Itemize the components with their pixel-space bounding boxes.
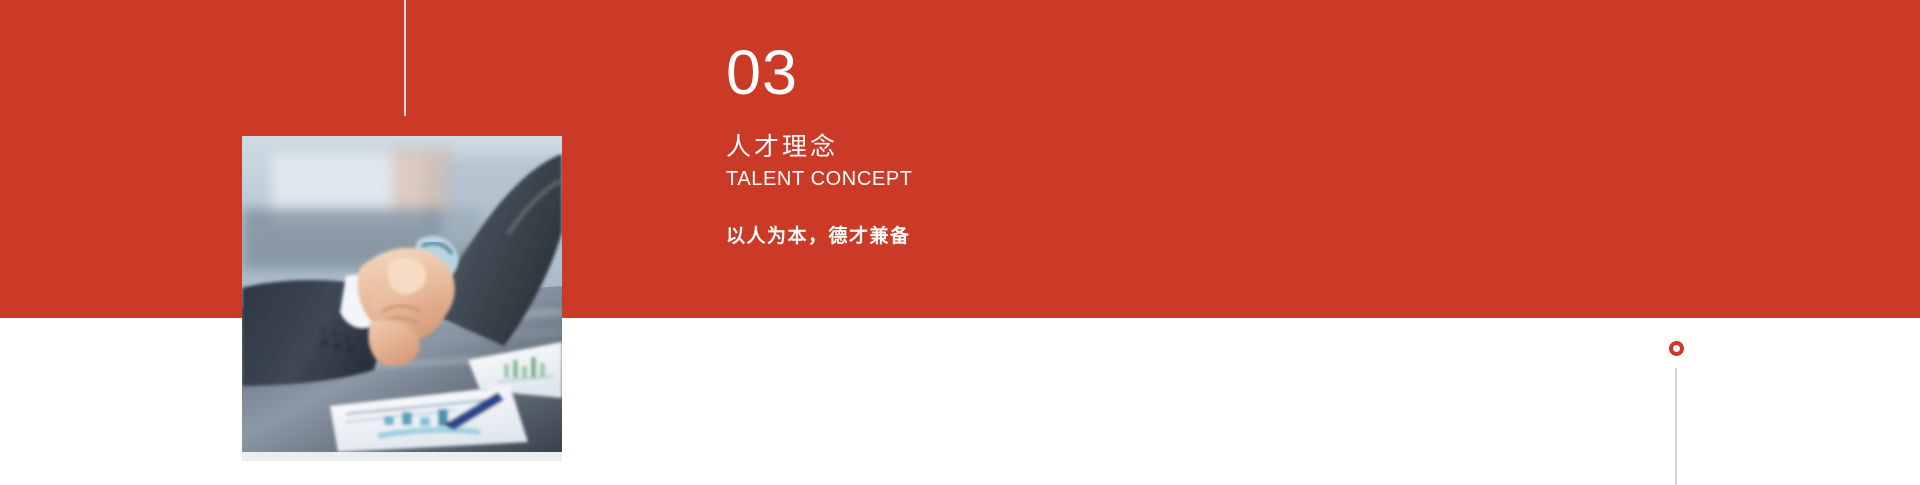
- photo-shadow-strip: [242, 452, 562, 461]
- circle-marker-icon: [1669, 341, 1684, 356]
- marker-vertical-line: [1675, 368, 1677, 485]
- section-text-block: 03 人才理念 TALENT CONCEPT 以人为本，德才兼备: [726, 40, 1426, 251]
- handshake-photo-frame: [242, 136, 562, 452]
- top-vertical-rule: [404, 0, 406, 116]
- handshake-photo: [242, 136, 562, 452]
- slide-root: 03 人才理念 TALENT CONCEPT 以人为本，德才兼备: [0, 0, 1920, 485]
- section-number: 03: [726, 40, 1426, 106]
- section-title-chinese: 人才理念: [726, 132, 1426, 163]
- section-title-english: TALENT CONCEPT: [726, 167, 1426, 192]
- handshake-illustration: [242, 136, 562, 452]
- section-tagline: 以人为本，德才兼备: [726, 224, 1426, 251]
